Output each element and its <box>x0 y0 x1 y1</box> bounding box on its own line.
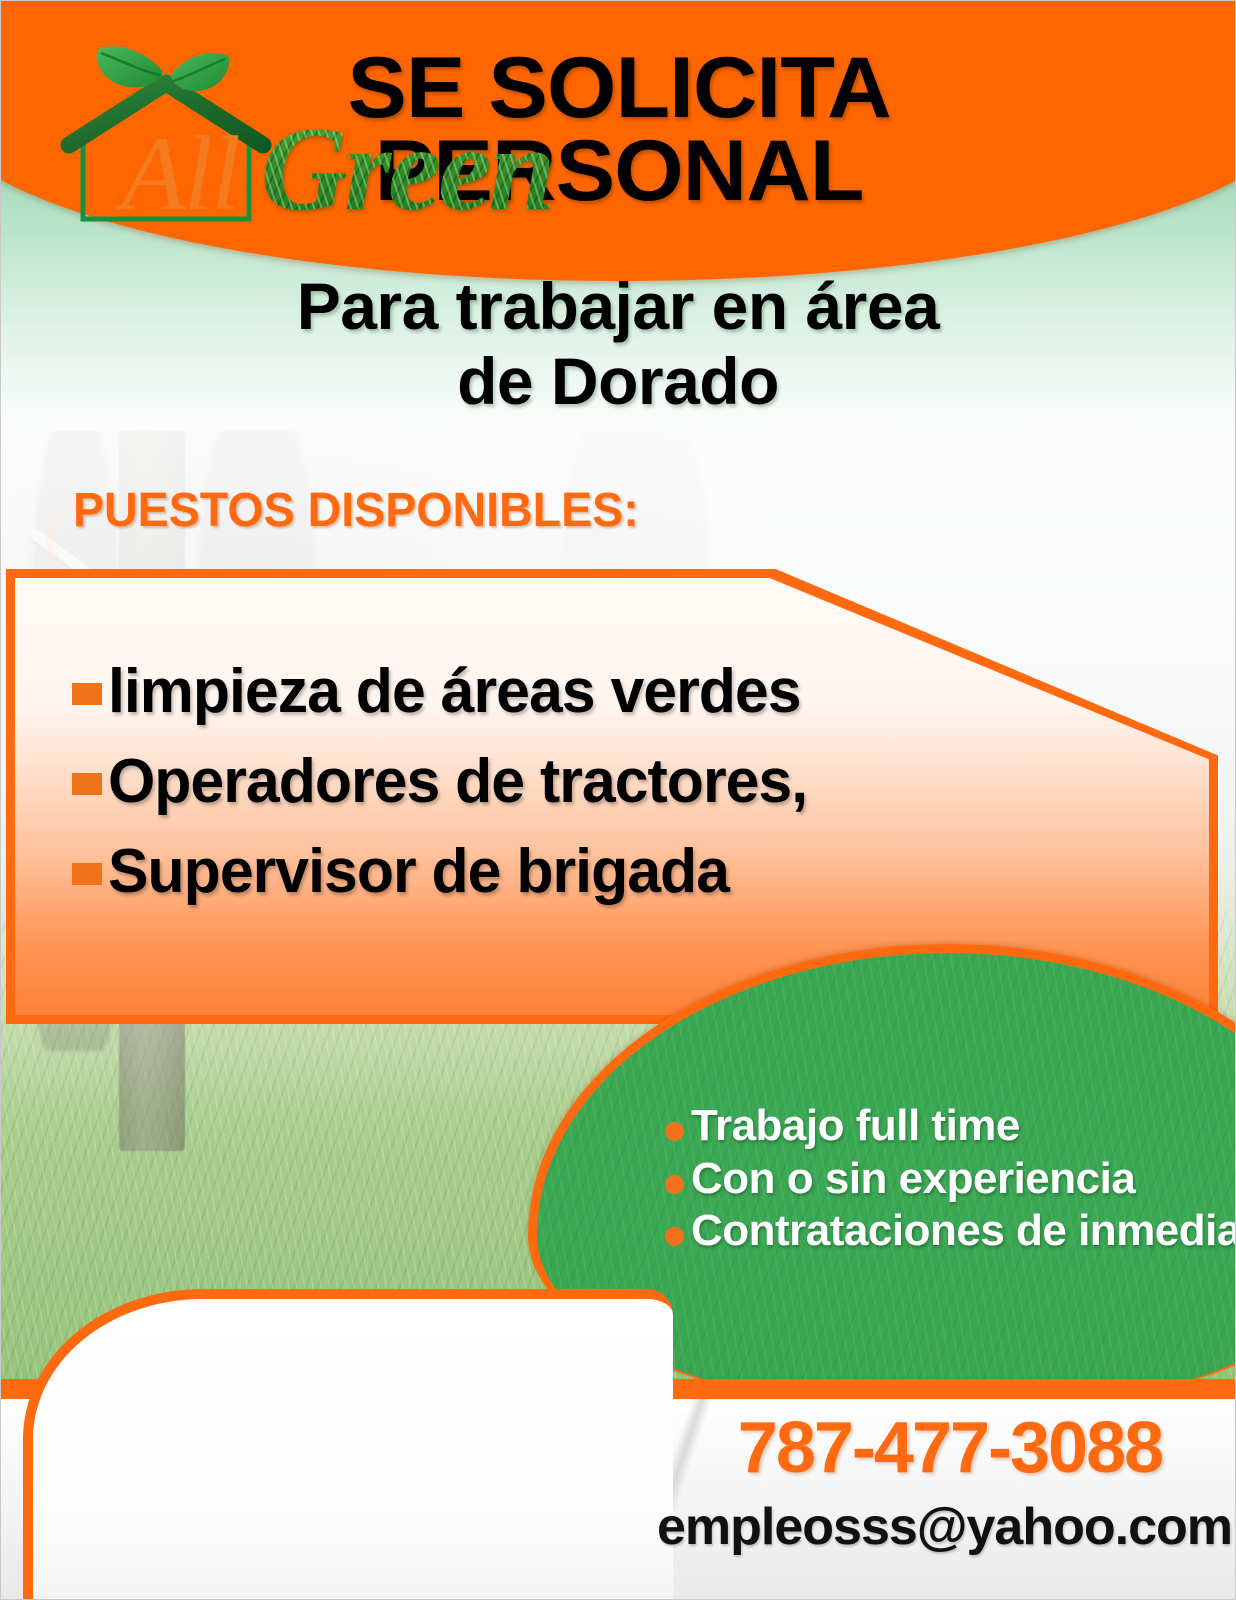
perk-text: Trabajo full time <box>691 1103 1020 1150</box>
contact-phone[interactable]: 787-477-3088 <box>677 1407 1223 1489</box>
round-bullet-icon <box>665 1122 684 1141</box>
perks-list: Trabajo full time Con o sin experiencia … <box>665 1103 1236 1261</box>
job-flyer: SE SOLICITA PERSONAL Para trabajar en ár… <box>0 0 1236 1600</box>
list-item: Trabajo full time <box>665 1103 1236 1150</box>
list-item: limpieza de áreas verdes <box>72 661 1092 723</box>
list-item: Con o sin experiencia <box>665 1156 1236 1203</box>
job-title: Operadores de tractores, <box>108 751 807 813</box>
list-item: Supervisor de brigada <box>72 841 1092 903</box>
logo-word-green: Green <box>261 109 553 229</box>
subtitle: Para trabajar en área de Dorado <box>1 269 1235 419</box>
perk-text: Contrataciones de inmediato <box>691 1208 1236 1255</box>
round-bullet-icon <box>665 1175 684 1194</box>
list-item: Contrataciones de inmediato <box>665 1208 1236 1255</box>
jobs-section-label: PUESTOS DISPONIBLES: <box>73 483 639 538</box>
square-bullet-icon <box>72 683 102 705</box>
jobs-list: limpieza de áreas verdes Operadores de t… <box>72 661 1092 931</box>
logo-panel-fill <box>33 1299 673 1600</box>
square-bullet-icon <box>72 863 102 885</box>
logo-wordmark: All Green <box>121 109 552 229</box>
contact-email[interactable]: empleosss@yahoo.com <box>657 1497 1223 1557</box>
job-title: Supervisor de brigada <box>108 841 729 903</box>
square-bullet-icon <box>72 773 102 795</box>
list-item: Operadores de tractores, <box>72 751 1092 813</box>
perk-text: Con o sin experiencia <box>691 1156 1135 1203</box>
logo-word-all: All <box>121 121 239 227</box>
round-bullet-icon <box>665 1227 684 1246</box>
job-title: limpieza de áreas verdes <box>108 661 801 723</box>
logo-panel <box>23 1289 673 1600</box>
